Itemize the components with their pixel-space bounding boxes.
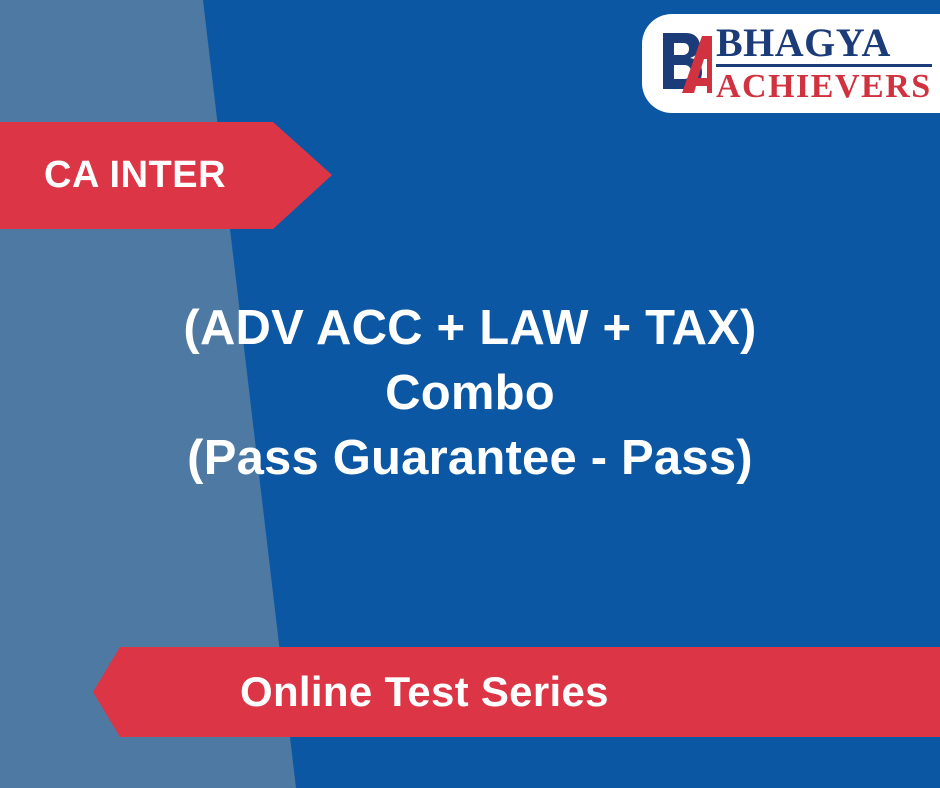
poster-title: (ADV ACC + LAW + TAX) Combo (Pass Guaran…	[0, 296, 940, 491]
brand-name-primary: BHAGYA	[716, 23, 932, 67]
poster-title-line-2: Combo	[0, 361, 940, 426]
poster-title-line-1: (ADV ACC + LAW + TAX)	[0, 296, 940, 361]
brand-logo-plate[interactable]: BHAGYA ACHIEVERS	[642, 14, 940, 113]
bhagya-achievers-monogram-icon	[660, 31, 712, 97]
poster-title-line-3: (Pass Guarantee - Pass)	[0, 426, 940, 491]
brand-name-secondary: ACHIEVERS	[716, 70, 932, 104]
product-type-label: Online Test Series	[93, 668, 609, 716]
course-level-ribbon: CA INTER	[0, 122, 332, 229]
brand-wordmark: BHAGYA ACHIEVERS	[716, 23, 932, 104]
course-poster: BHAGYA ACHIEVERS CA INTER (ADV ACC + LAW…	[0, 0, 940, 788]
product-type-banner: Online Test Series	[93, 647, 940, 737]
course-level-label: CA INTER	[0, 154, 226, 197]
